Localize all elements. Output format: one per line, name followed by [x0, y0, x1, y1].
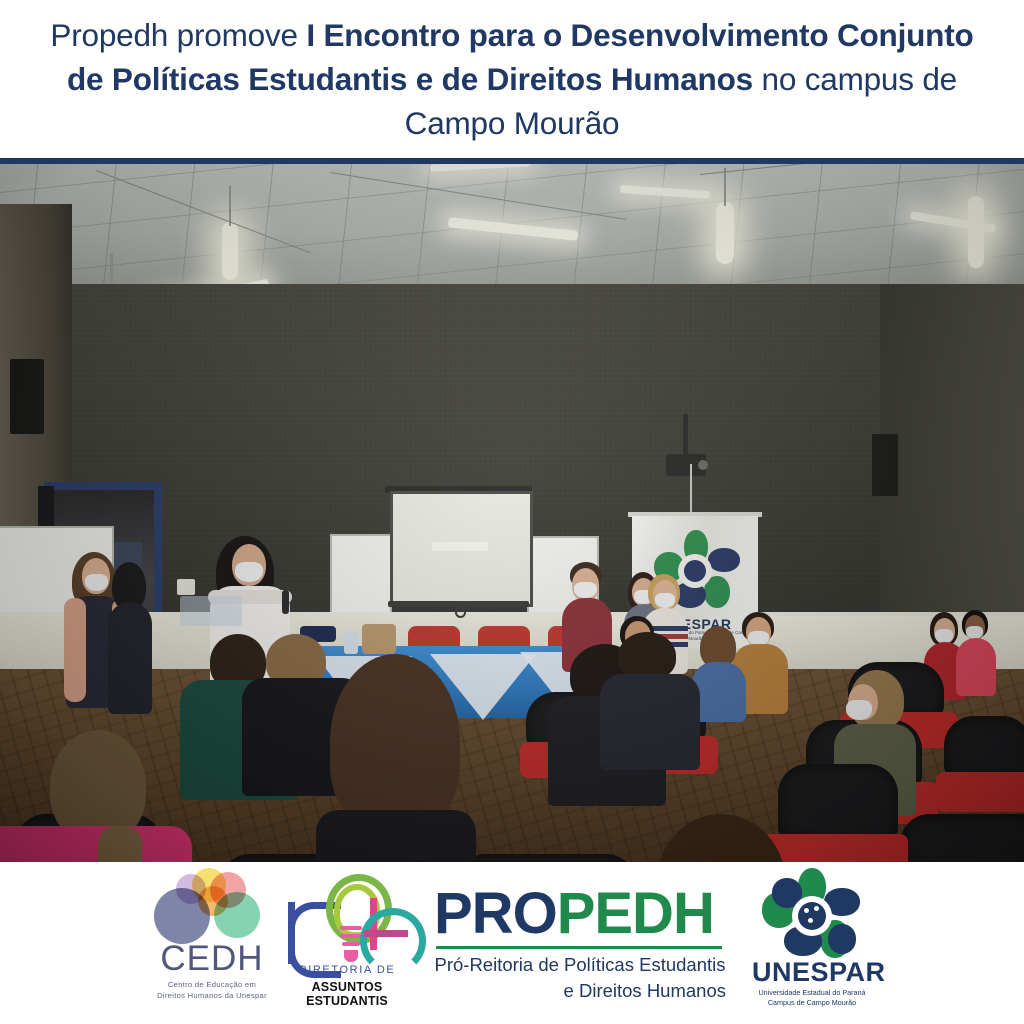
- unespar-logo: UNESPAR Universidade Estadual do Paraná …: [752, 872, 872, 1012]
- pendant-lamp: [716, 202, 734, 264]
- projected-slide-text: [432, 542, 488, 551]
- dae-logo: DIRETORIA DE ASSUNTOS ESTUDANTIS: [282, 868, 412, 1010]
- hand-sanitizer-bottle: [344, 632, 358, 654]
- cedh-subtitle: Centro de Educação em Direitos Humanos d…: [146, 980, 278, 1001]
- dae-subtitle-line1: DIRETORIA DE: [282, 964, 412, 976]
- poster-canvas: Propedh promove I Encontro para o Desenv…: [0, 0, 1024, 1024]
- propedh-word-pedh: PEDH: [557, 881, 714, 946]
- footer-logo-bar: CEDH Centro de Educação em Direitos Huma…: [0, 862, 1024, 1024]
- title-segment-bold-3: Humanos: [611, 61, 753, 97]
- dae-letter-mark: [282, 868, 412, 968]
- acrylic-lectern: [180, 596, 242, 626]
- wall-speaker: [10, 359, 44, 434]
- banner-support-pole: [690, 464, 692, 518]
- bulb-filament: [342, 942, 360, 946]
- dae-letter-e-bar: [364, 930, 408, 937]
- event-photograph: UNESPAR Universidade Estadual do Paraná …: [0, 164, 1024, 862]
- pendant-lamp-stem: [229, 186, 231, 226]
- propedh-underline-rule: [436, 946, 722, 949]
- unespar-logo-mark: [766, 872, 858, 960]
- projector-lens: [698, 460, 708, 470]
- page-title: Propedh promove I Encontro para o Desenv…: [37, 13, 987, 145]
- microphone: [282, 590, 289, 614]
- title-segment-normal-1: Propedh promove: [50, 17, 306, 53]
- wall-outlet: [177, 579, 195, 595]
- cedh-acronym: CEDH: [146, 940, 278, 978]
- cedh-subtitle-line2: Direitos Humanos da Unespar: [157, 991, 267, 1000]
- propedh-logo: PROPEDH Pró-Reitoria de Políticas Estuda…: [434, 884, 726, 1010]
- propedh-subtitle-line2: e Direitos Humanos: [434, 978, 726, 1004]
- wall-speaker: [872, 434, 898, 496]
- projection-screen-hook: [455, 607, 466, 618]
- header-banner: Propedh promove I Encontro para o Desenv…: [0, 0, 1024, 158]
- unespar-subtitle-line1: Universidade Estadual do Paraná: [758, 988, 865, 997]
- pendant-lamp: [968, 196, 984, 268]
- title-segment-bold-1: I Encontro para o Desenvolvimento: [306, 17, 828, 53]
- propedh-word-pro: PRO: [434, 881, 557, 946]
- unespar-subtitle-line2: Campus de Campo Mourão: [768, 998, 856, 1007]
- handbag-on-table: [362, 624, 396, 654]
- projector-mount-rod: [683, 414, 688, 458]
- auditorium-chair: [760, 764, 910, 862]
- cedh-circle-mark: [146, 870, 278, 944]
- bulb-filament: [340, 934, 362, 938]
- unespar-subtitle: Universidade Estadual do Paraná Campus d…: [752, 988, 872, 1007]
- pendant-lamp: [222, 222, 238, 280]
- dae-subtitle-line2: ASSUNTOS ESTUDANTIS: [282, 980, 412, 1008]
- bulb-filament: [340, 926, 362, 930]
- unespar-acronym: UNESPAR: [752, 958, 872, 986]
- pendant-lamp-stem: [724, 168, 726, 206]
- right-wall: [880, 284, 1024, 624]
- bulb-base: [344, 950, 358, 962]
- propedh-wordmark: PROPEDH: [434, 884, 714, 944]
- cedh-logo: CEDH Centro de Educação em Direitos Huma…: [146, 870, 278, 1010]
- cedh-subtitle-line1: Centro de Educação em: [168, 980, 256, 989]
- propedh-subtitle-line1: Pró-Reitoria de Políticas Estudantis: [434, 952, 726, 978]
